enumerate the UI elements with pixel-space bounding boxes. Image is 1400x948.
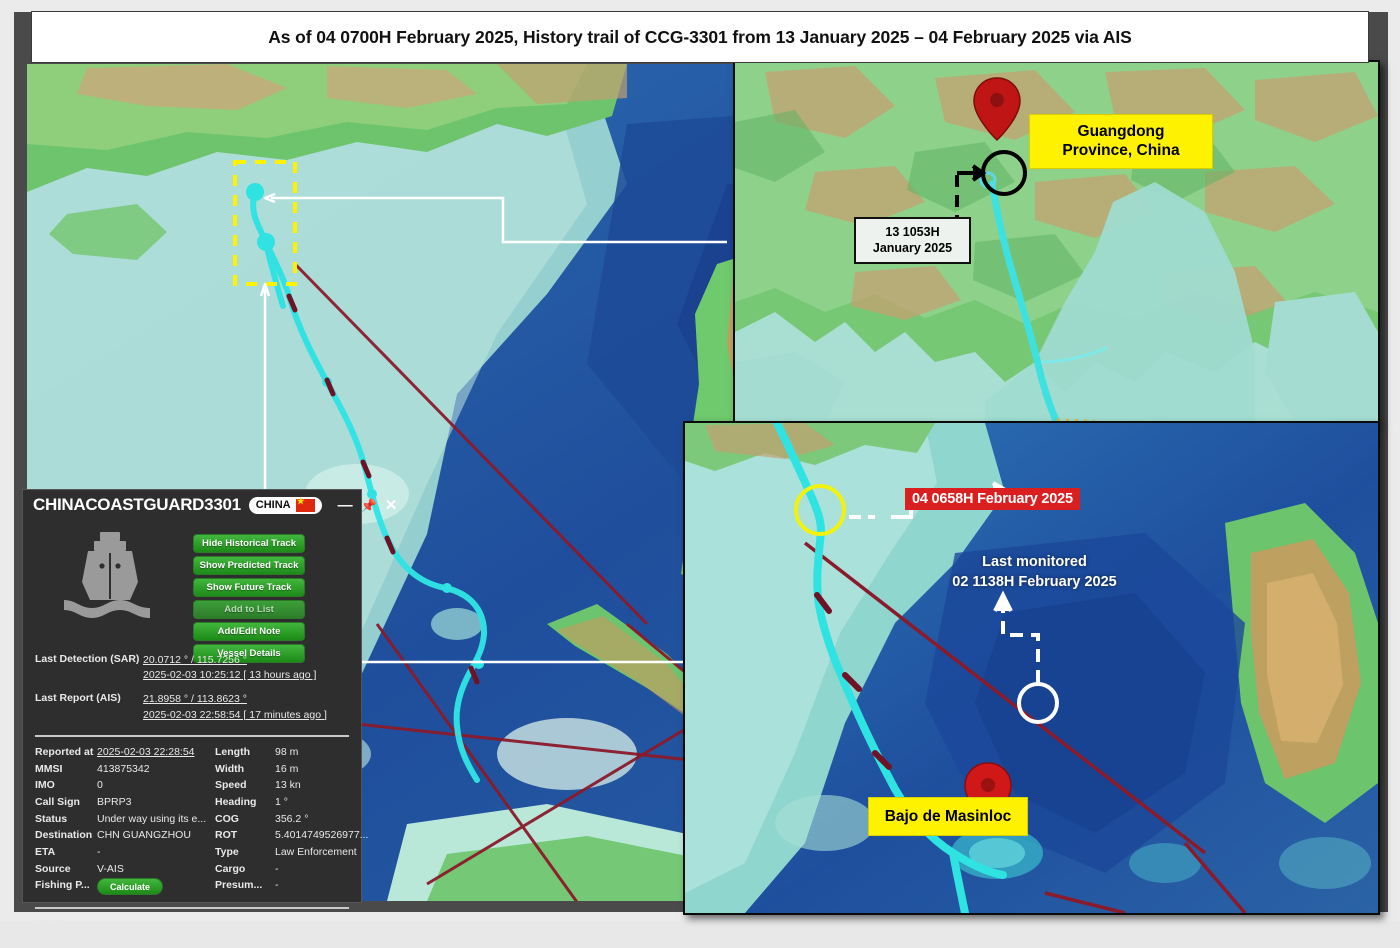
ship-icon: [58, 526, 162, 630]
panel-header: CHINACOASTGUARD3301 CHINA — 📌 ✕: [23, 490, 361, 520]
key-rot: ROT: [215, 828, 275, 842]
key-fishing-potential: Fishing P...: [35, 878, 97, 895]
val-reported-at: 2025-02-03 22:28:54: [97, 745, 215, 759]
label-guangdong-line1: Guangdong: [1036, 122, 1206, 141]
show-future-track-button[interactable]: Show Future Track: [193, 578, 305, 597]
label-last-monitored: Last monitored 02 1138H February 2025: [942, 553, 1127, 592]
label-jan-timestamp: 13 1053H January 2025: [854, 217, 971, 264]
calculate-button[interactable]: Calculate: [97, 878, 163, 895]
vessel-info-panel[interactable]: CHINACOASTGUARD3301 CHINA — 📌 ✕: [22, 489, 362, 903]
val-speed: 13 kn: [275, 778, 368, 792]
flag-country-label: CHINA: [256, 499, 291, 511]
key-speed: Speed: [215, 778, 275, 792]
location-pin-icon: [974, 78, 1020, 140]
label-guangdong-line2: Province, China: [1036, 141, 1206, 160]
val-status: Under way using its e...: [97, 812, 215, 826]
jan-timestamp-line1: 13 1053H: [860, 224, 965, 240]
current-position-circle: [796, 486, 844, 534]
panel-top-row: Hide Historical Track Show Predicted Tra…: [35, 526, 349, 644]
last-monitored-line1: Last monitored: [942, 553, 1127, 573]
val-heading: 1 °: [275, 795, 368, 809]
show-predicted-track-button[interactable]: Show Predicted Track: [193, 556, 305, 575]
calculate-cell: Calculate: [97, 878, 215, 895]
val-eta: -: [97, 845, 215, 859]
val-length: 98 m: [275, 745, 368, 759]
label-feb-timestamp: 04 0658H February 2025: [905, 488, 1080, 510]
val-rot: 5.4014749526977...: [275, 828, 368, 842]
vessel-thumbnail: [35, 526, 185, 630]
val-call-sign: BPRP3: [97, 795, 215, 809]
minimize-icon[interactable]: —: [338, 498, 353, 513]
callout-arrow-lower: [849, 495, 911, 517]
key-call-sign: Call Sign: [35, 795, 97, 809]
key-length: Length: [215, 745, 275, 759]
label-bajo-de-masinloc: Bajo de Masinloc: [868, 797, 1028, 836]
divider-bottom: [35, 907, 349, 909]
key-reported-at: Reported at: [35, 745, 97, 759]
val-imo: 0: [97, 778, 215, 792]
add-edit-note-button[interactable]: Add/Edit Note: [193, 622, 305, 641]
val-iuu: No: [97, 934, 349, 948]
title-banner: As of 04 0700H February 2025, History tr…: [31, 11, 1369, 63]
key-imo: IMO: [35, 778, 97, 792]
last-detection-position[interactable]: 20.0712 ° / 115.7256 °: [143, 653, 316, 668]
screenshot-root: Guangdong Province, China 13 1053H Janua…: [0, 0, 1400, 921]
last-detection-label: Last Detection (SAR): [35, 653, 143, 683]
key-source: Source: [35, 862, 97, 876]
close-icon[interactable]: ✕: [385, 498, 398, 513]
last-monitored-leader: [995, 595, 1038, 683]
key-presumed: Presum...: [215, 878, 275, 895]
action-buttons: Hide Historical Track Show Predicted Tra…: [193, 526, 305, 663]
val-presumed: -: [275, 878, 368, 895]
key-width: Width: [215, 762, 275, 776]
val-cargo: -: [275, 862, 368, 876]
val-mmsi: 413875342: [97, 762, 215, 776]
key-iuu: IUU: [35, 934, 97, 948]
vessel-name: CHINACOASTGUARD3301: [33, 495, 241, 515]
key-heading: Heading: [215, 795, 275, 809]
compliance-grid: RFMO - IUU No: [35, 917, 349, 948]
vessel-details-grid: Reported at 2025-02-03 22:28:54 Length 9…: [35, 745, 349, 896]
china-flag-icon: [296, 499, 315, 512]
key-rfmo: RFMO: [35, 917, 97, 931]
last-report-position[interactable]: 21.8958 ° / 113.8623 °: [143, 692, 327, 707]
val-destination: CHN GUANGZHOU: [97, 828, 215, 842]
divider-top: [35, 735, 349, 737]
last-report-timestamp[interactable]: 2025-02-03 22:58:54 [ 17 minutes ago ]: [143, 708, 327, 723]
last-detection-row: Last Detection (SAR) 20.0712 ° / 115.725…: [35, 653, 349, 683]
label-guangdong: Guangdong Province, China: [1029, 114, 1213, 169]
key-cog: COG: [215, 812, 275, 826]
jan-timestamp-line2: January 2025: [860, 240, 965, 256]
val-rfmo: -: [97, 917, 349, 931]
last-monitored-line2: 02 1138H February 2025: [942, 573, 1127, 593]
hide-historical-track-button[interactable]: Hide Historical Track: [193, 534, 305, 553]
last-detection-timestamp[interactable]: 2025-02-03 10:25:12 [ 13 hours ago ]: [143, 668, 316, 683]
last-report-row: Last Report (AIS) 21.8958 ° / 113.8623 °…: [35, 692, 349, 722]
panel-body: Hide Historical Track Show Predicted Tra…: [23, 520, 361, 948]
add-to-list-button[interactable]: Add to List: [193, 600, 305, 619]
val-cog: 356.2 °: [275, 812, 368, 826]
flag-badge: CHINA: [249, 497, 322, 514]
position-circle-marker: [983, 152, 1025, 194]
val-source: V-AIS: [97, 862, 215, 876]
key-eta: ETA: [35, 845, 97, 859]
val-width: 16 m: [275, 762, 368, 776]
val-type: Law Enforcement: [275, 845, 368, 859]
inset-map-guangdong[interactable]: Guangdong Province, China 13 1053H Janua…: [733, 60, 1380, 424]
key-destination: Destination: [35, 828, 97, 842]
key-cargo: Cargo: [215, 862, 275, 876]
last-monitored-circle: [1019, 684, 1057, 722]
page-title: As of 04 0700H February 2025, History tr…: [268, 27, 1132, 48]
pin-icon[interactable]: 📌: [361, 499, 377, 512]
last-report-label: Last Report (AIS): [35, 692, 143, 722]
key-type: Type: [215, 845, 275, 859]
key-status: Status: [35, 812, 97, 826]
key-mmsi: MMSI: [35, 762, 97, 776]
inset-map-bajo-de-masinloc[interactable]: 04 0658H February 2025 Last monitored 02…: [683, 421, 1380, 915]
